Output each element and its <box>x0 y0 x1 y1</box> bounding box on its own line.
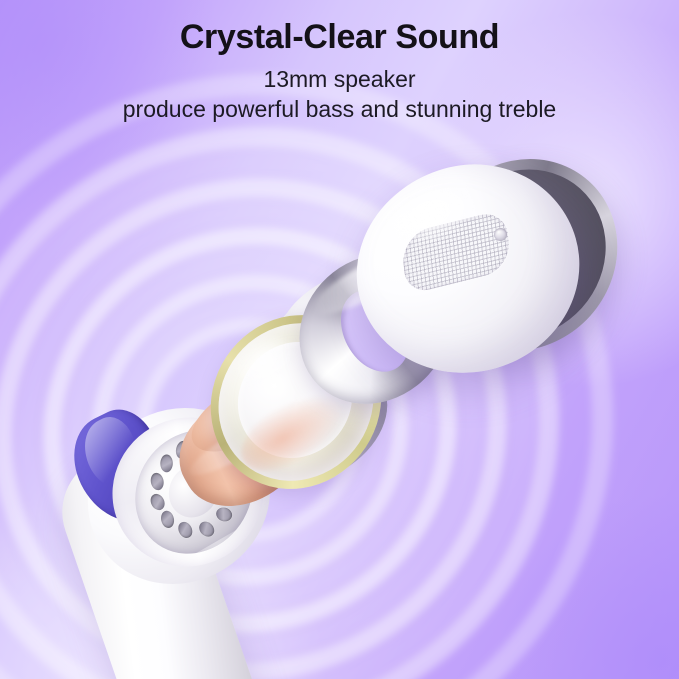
subtitle-block: 13mm speaker produce powerful bass and s… <box>0 64 679 125</box>
subtitle-line-1: 13mm speaker <box>263 66 415 92</box>
page-title: Crystal-Clear Sound <box>0 18 679 57</box>
subtitle-line-2: produce powerful bass and stunning trebl… <box>0 94 679 124</box>
product-feature-poster: Crystal-Clear Sound 13mm speaker produce… <box>0 0 679 679</box>
sensor-pinhole <box>494 228 507 241</box>
